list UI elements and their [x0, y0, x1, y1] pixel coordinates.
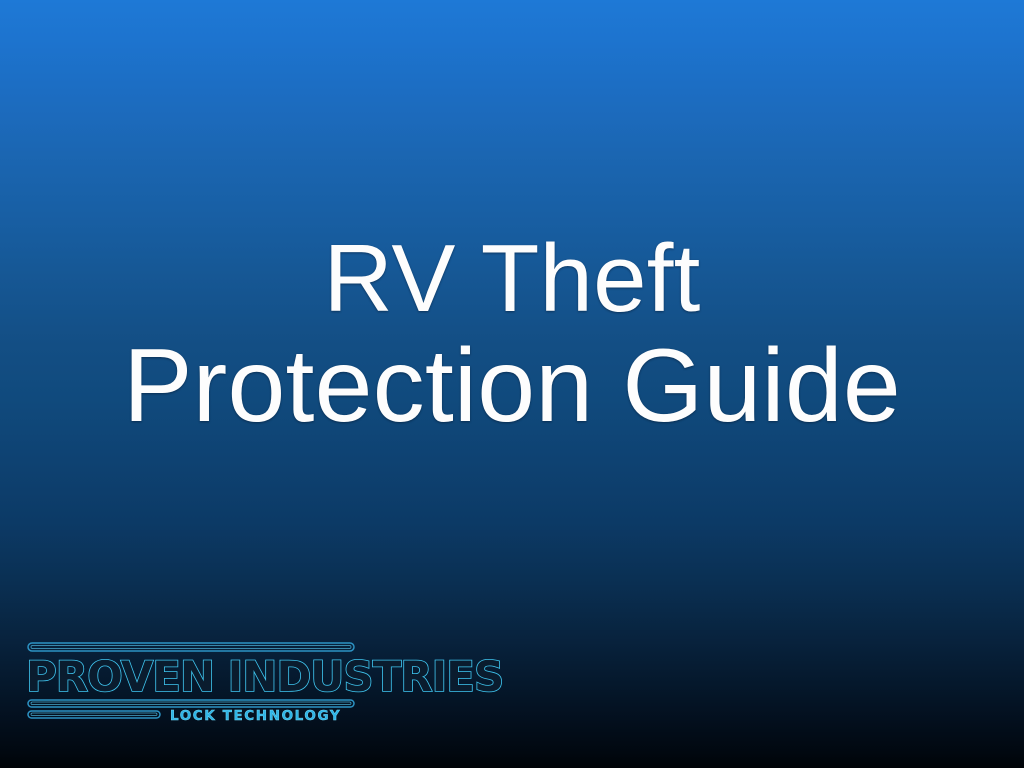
- presentation-slide: RV Theft Protection Guide PROVEN INDUSTR…: [0, 0, 1024, 768]
- title-line-1: RV Theft: [60, 228, 964, 331]
- title-line-2: Protection Guide: [60, 331, 964, 442]
- logo-middle-bar: [28, 700, 354, 707]
- logo-tagline: LOCK TECHNOLOGY: [170, 708, 341, 724]
- logo-bottom-bar: [28, 711, 160, 718]
- brand-logo-graphic: PROVEN INDUSTRIES LOCK TECHNOLOGY: [24, 634, 360, 730]
- logo-wordmark: PROVEN INDUSTRIES: [26, 652, 503, 701]
- brand-logo: PROVEN INDUSTRIES LOCK TECHNOLOGY: [24, 634, 360, 730]
- page-title: RV Theft Protection Guide: [0, 228, 1024, 442]
- logo-top-bar: [28, 643, 354, 651]
